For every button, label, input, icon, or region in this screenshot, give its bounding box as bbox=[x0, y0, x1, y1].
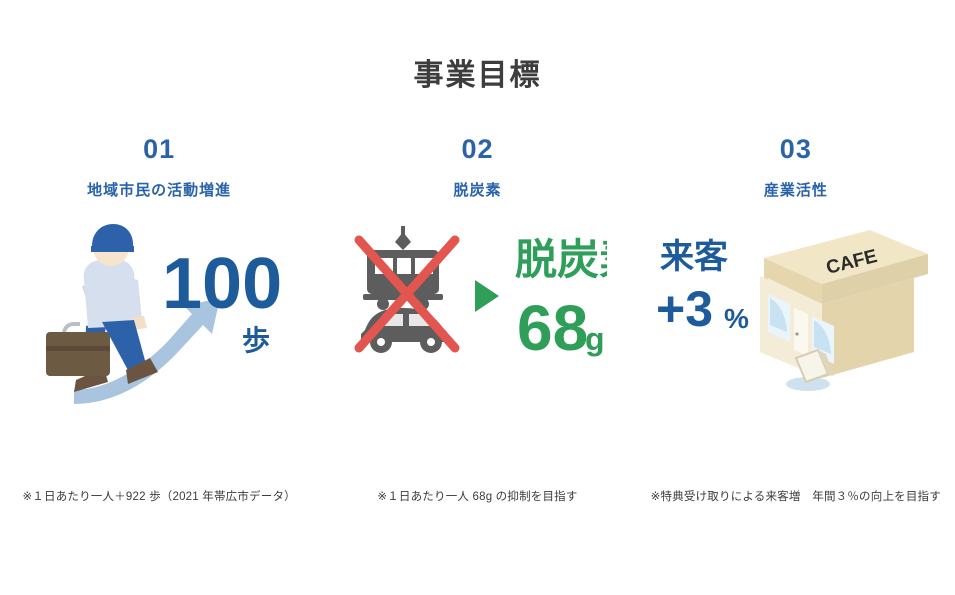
stat-value-visitors: +3 bbox=[656, 281, 713, 337]
goal-number-02: 02 bbox=[318, 136, 636, 163]
stat-unit-co2: g bbox=[585, 321, 605, 357]
walking-person-svg: 1000 歩 bbox=[34, 222, 284, 412]
slide-canvas: 事業目標 01 地域市民の活動増進 bbox=[0, 0, 955, 595]
page-title: 事業目標 bbox=[0, 50, 955, 94]
footnotes-row: ※１日あたり一人＋922 歩（2021 年帯広市データ） ※１日あたり一人 68… bbox=[0, 488, 955, 504]
stat-value-co2: 68 bbox=[517, 292, 588, 364]
goal-column-03: 03 産業活性 来客 +3 % bbox=[637, 128, 955, 528]
stat-label-decarbonization: 脱炭素 bbox=[515, 236, 607, 283]
businessman-figure-icon bbox=[46, 224, 158, 392]
footnote-03: ※特典受け取りによる来客増 年間３％の向上を目指す bbox=[637, 488, 955, 504]
stat-unit-visitors: % bbox=[724, 303, 749, 334]
right-arrow-icon bbox=[475, 280, 499, 312]
stat-label-visitors: 来客 bbox=[660, 238, 728, 276]
goal-subtitle-02: 脱炭素 bbox=[318, 179, 636, 200]
illustration-decarbonization: 脱炭素 68 g bbox=[318, 222, 636, 437]
goal-subtitle-03: 産業活性 bbox=[637, 179, 955, 200]
goal-column-01: 01 地域市民の活動増進 bbox=[0, 128, 318, 528]
stat-value-steps: 1000 bbox=[162, 244, 284, 324]
illustration-cafe: 来客 +3 % bbox=[637, 222, 955, 437]
goal-number-03: 03 bbox=[637, 136, 955, 163]
decarbonization-svg: 脱炭素 68 g bbox=[347, 222, 607, 372]
goal-subtitle-01: 地域市民の活動増進 bbox=[0, 179, 318, 200]
cafe-building-icon: CAFE bbox=[760, 230, 928, 391]
illustration-walking-person: 1000 歩 bbox=[0, 222, 318, 437]
goal-columns: 01 地域市民の活動増進 bbox=[0, 128, 955, 528]
cafe-storefront-svg: 来客 +3 % bbox=[656, 222, 936, 392]
goal-number-01: 01 bbox=[0, 136, 318, 163]
goal-column-02: 02 脱炭素 bbox=[318, 128, 636, 528]
stat-unit-steps: 歩 bbox=[242, 325, 270, 356]
footnote-02: ※１日あたり一人 68g の抑制を目指す bbox=[318, 488, 636, 504]
footnote-01: ※１日あたり一人＋922 歩（2021 年帯広市データ） bbox=[0, 488, 318, 504]
